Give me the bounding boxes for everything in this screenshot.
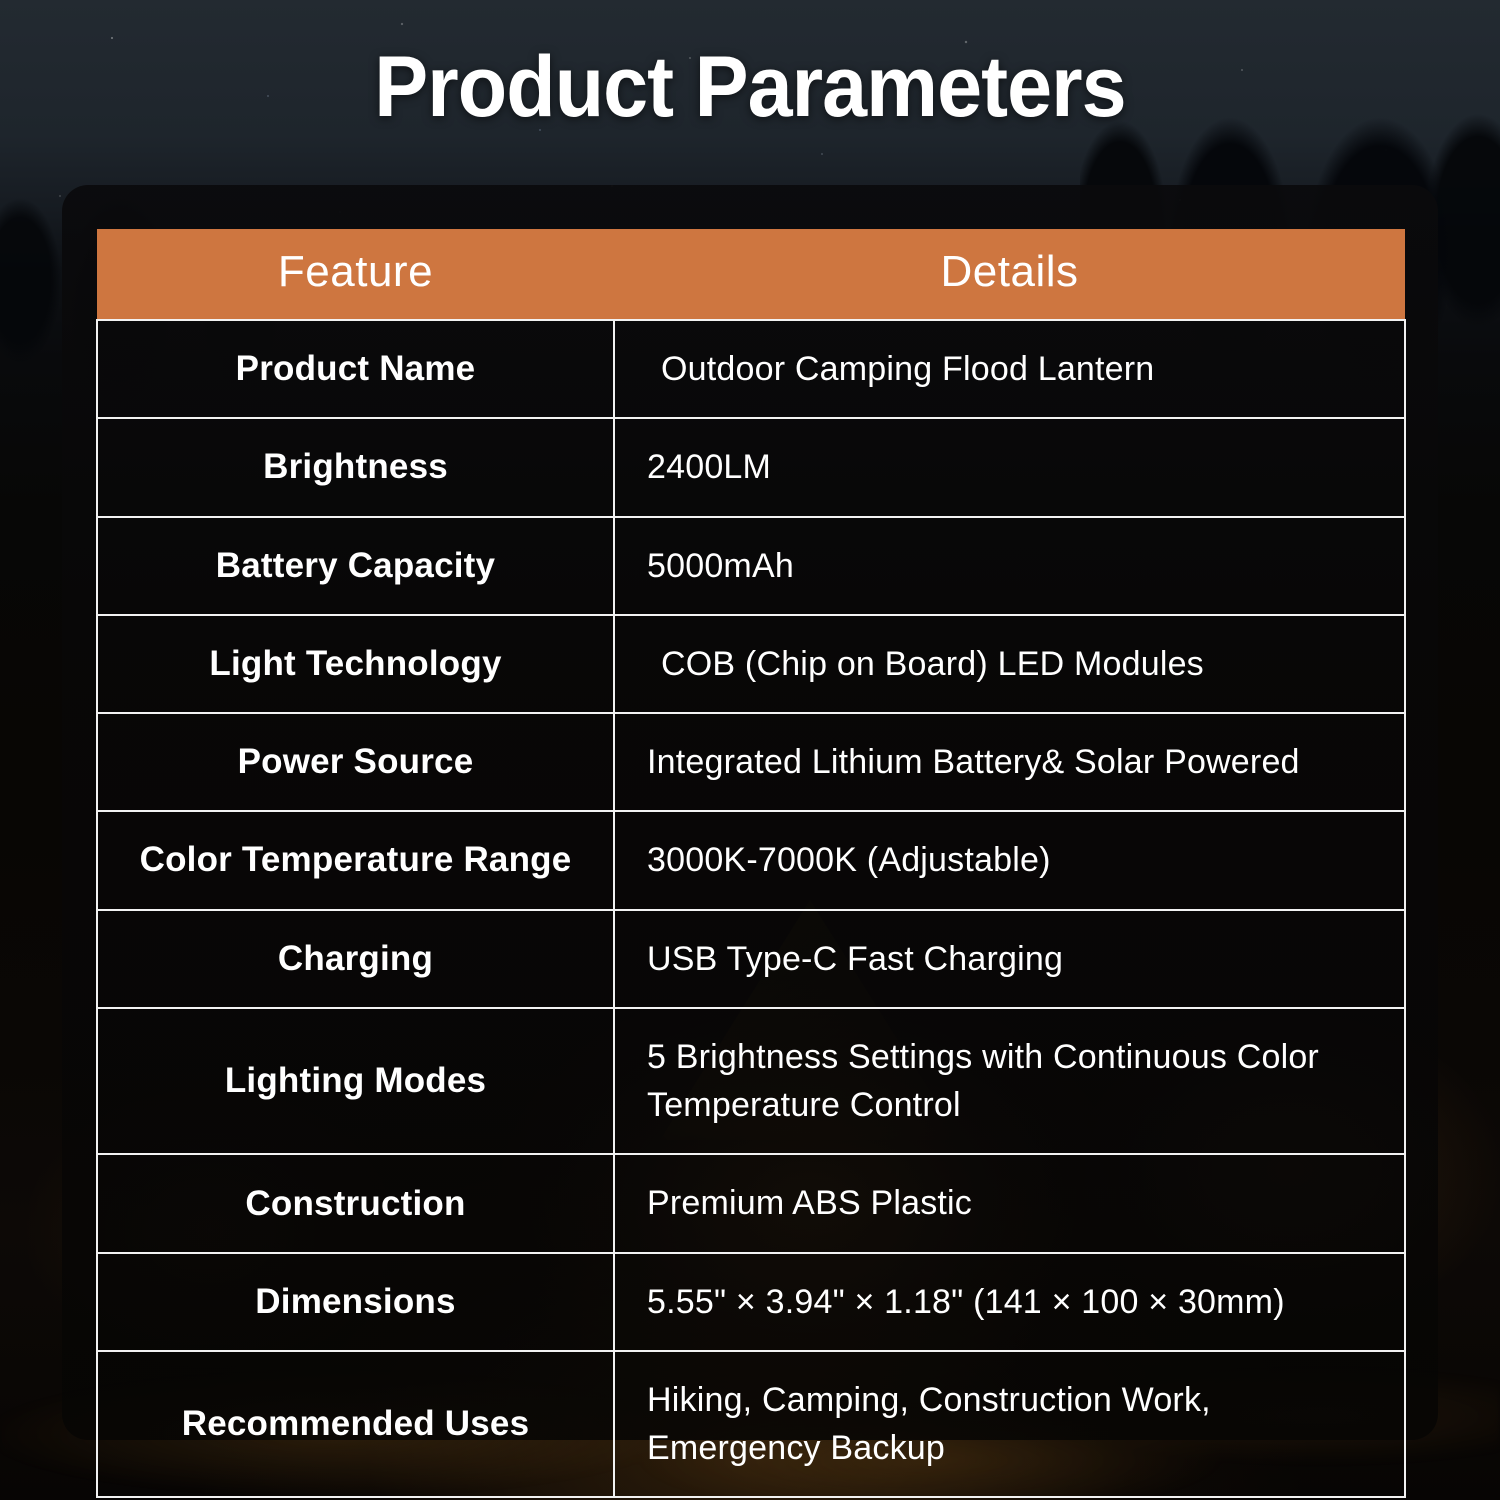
details-cell: Outdoor Camping Flood Lantern	[614, 320, 1405, 418]
details-cell: 5 Brightness Settings with Continuous Co…	[614, 1008, 1405, 1155]
details-cell: 5.55" × 3.94" × 1.18" (141 × 100 × 30mm)	[614, 1253, 1405, 1351]
feature-cell: Battery Capacity	[97, 517, 614, 615]
feature-cell: Lighting Modes	[97, 1008, 614, 1155]
feature-cell: Construction	[97, 1154, 614, 1252]
column-header-details: Details	[614, 229, 1405, 320]
details-cell: Premium ABS Plastic	[614, 1154, 1405, 1252]
table-row: Brightness2400LM	[97, 418, 1405, 516]
table-row: Recommended UsesHiking, Camping, Constru…	[97, 1351, 1405, 1498]
details-cell: Hiking, Camping, Construction Work, Emer…	[614, 1351, 1405, 1498]
details-cell: COB (Chip on Board) LED Modules	[614, 615, 1405, 713]
table-row: Battery Capacity5000mAh	[97, 517, 1405, 615]
table-row: ChargingUSB Type-C Fast Charging	[97, 910, 1405, 1008]
details-cell: 5000mAh	[614, 517, 1405, 615]
table-row: Dimensions5.55" × 3.94" × 1.18" (141 × 1…	[97, 1253, 1405, 1351]
feature-cell: Light Technology	[97, 615, 614, 713]
feature-cell: Product Name	[97, 320, 614, 418]
table-row: Color Temperature Range3000K-7000K (Adju…	[97, 811, 1405, 909]
table-row: ConstructionPremium ABS Plastic	[97, 1154, 1405, 1252]
feature-cell: Charging	[97, 910, 614, 1008]
page-title: Product Parameters	[45, 38, 1455, 137]
feature-cell: Brightness	[97, 418, 614, 516]
table-row: Product NameOutdoor Camping Flood Lanter…	[97, 320, 1405, 418]
details-cell: 3000K-7000K (Adjustable)	[614, 811, 1405, 909]
product-parameters-table: Feature Details Product NameOutdoor Camp…	[96, 229, 1406, 1498]
feature-cell: Color Temperature Range	[97, 811, 614, 909]
details-cell: Integrated Lithium Battery& Solar Powere…	[614, 713, 1405, 811]
header-row: Feature Details	[97, 229, 1405, 320]
column-header-feature: Feature	[97, 229, 614, 320]
details-cell: USB Type-C Fast Charging	[614, 910, 1405, 1008]
feature-cell: Recommended Uses	[97, 1351, 614, 1498]
details-cell: 2400LM	[614, 418, 1405, 516]
feature-cell: Power Source	[97, 713, 614, 811]
table-row: Lighting Modes5 Brightness Settings with…	[97, 1008, 1405, 1155]
table-body: Product NameOutdoor Camping Flood Lanter…	[97, 320, 1405, 1497]
table-header: Feature Details	[97, 229, 1405, 320]
table-row: Power SourceIntegrated Lithium Battery& …	[97, 713, 1405, 811]
table-row: Light TechnologyCOB (Chip on Board) LED …	[97, 615, 1405, 713]
feature-cell: Dimensions	[97, 1253, 614, 1351]
